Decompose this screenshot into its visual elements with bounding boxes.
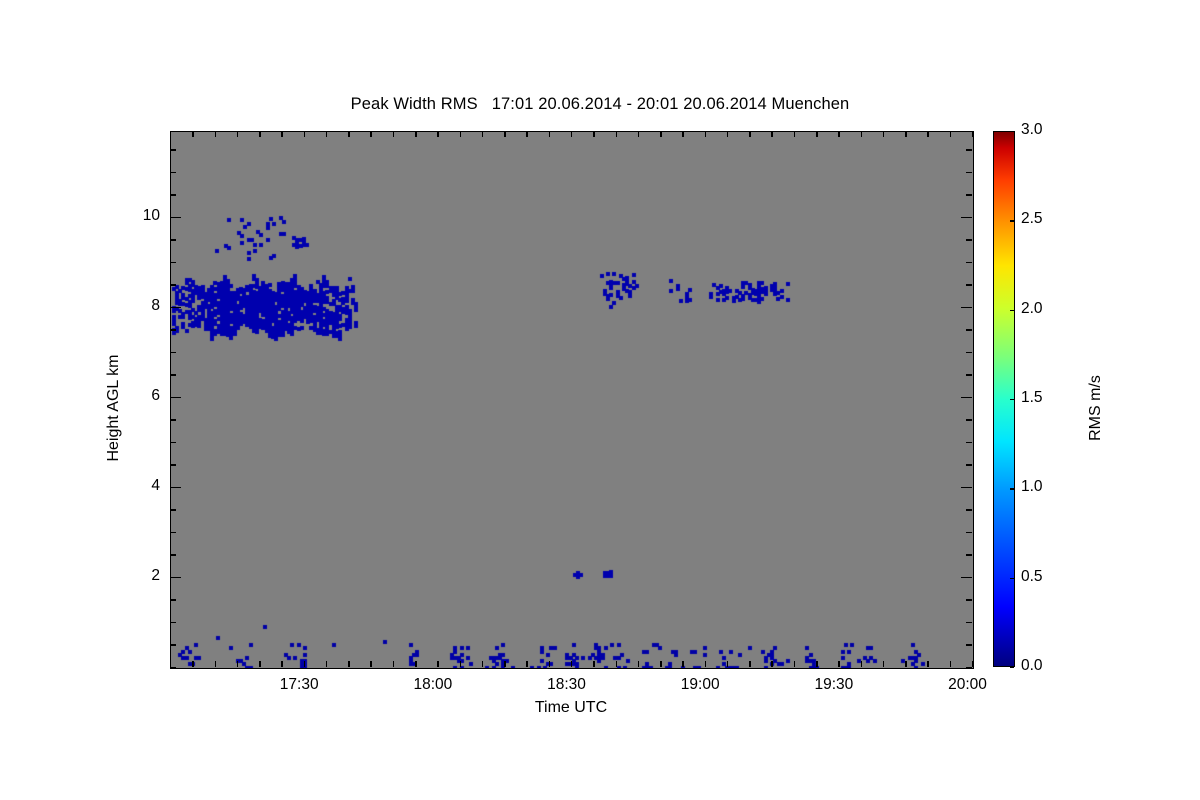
x-tick — [192, 131, 194, 137]
y-tick — [170, 644, 176, 646]
colorbar-tick — [1010, 488, 1014, 489]
x-tick — [549, 131, 551, 137]
page-title: Peak Width RMS 17:01 20.06.2014 - 20:01 … — [0, 95, 1200, 114]
y-tick — [170, 577, 181, 579]
y-tick — [966, 419, 972, 421]
colorbar-tick — [1010, 131, 1014, 132]
x-tick-label: 18:30 — [507, 676, 627, 694]
x-tick — [727, 661, 729, 667]
x-tick — [370, 131, 372, 137]
x-tick — [437, 661, 439, 667]
y-tick — [170, 487, 181, 489]
x-tick — [393, 131, 395, 137]
y-tick — [966, 509, 972, 511]
y-tick — [170, 419, 176, 421]
colorbar-tick-label: 3.0 — [1021, 121, 1043, 139]
x-tick — [259, 131, 261, 137]
y-tick — [966, 622, 972, 624]
y-tick — [966, 194, 972, 196]
y-tick — [961, 487, 972, 489]
x-tick — [682, 661, 684, 667]
x-tick — [883, 661, 885, 667]
y-tick — [170, 464, 176, 466]
x-tick — [771, 131, 773, 137]
x-tick — [705, 661, 707, 667]
colorbar-tick-label: 0.0 — [1021, 657, 1043, 675]
x-tick — [749, 661, 751, 667]
x-tick — [638, 661, 640, 667]
y-tick — [170, 284, 176, 286]
colorbar-tick — [1010, 220, 1014, 221]
plot-axes-area — [170, 131, 974, 669]
colorbar-tick-label: 2.5 — [1021, 210, 1043, 228]
x-tick — [616, 131, 618, 137]
y-tick — [966, 464, 972, 466]
x-tick — [861, 661, 863, 667]
y-tick — [170, 329, 176, 331]
x-tick — [660, 131, 662, 137]
y-tick — [966, 374, 972, 376]
x-tick-label: 20:00 — [908, 676, 1028, 694]
x-tick — [259, 661, 261, 667]
x-tick — [861, 131, 863, 137]
y-tick — [170, 622, 176, 624]
y-tick-label: 2 — [100, 567, 160, 585]
y-tick — [170, 194, 176, 196]
y-tick — [966, 284, 972, 286]
y-tick — [966, 532, 972, 534]
y-tick — [170, 149, 176, 151]
figure-canvas: Peak Width RMS 17:01 20.06.2014 - 20:01 … — [0, 0, 1200, 800]
colorbar-tick-label: 0.5 — [1021, 568, 1043, 586]
y-tick — [961, 397, 972, 399]
x-tick — [482, 661, 484, 667]
x-tick — [682, 131, 684, 137]
x-tick — [838, 661, 840, 667]
x-tick — [281, 661, 283, 667]
x-tick — [170, 131, 172, 137]
x-tick — [794, 661, 796, 667]
colorbar-tick-label: 2.0 — [1021, 300, 1043, 318]
x-tick — [727, 131, 729, 137]
x-tick — [771, 661, 773, 667]
x-tick — [593, 661, 595, 667]
x-tick — [281, 131, 283, 137]
x-tick-label: 18:00 — [373, 676, 493, 694]
x-tick — [616, 661, 618, 667]
x-tick — [192, 661, 194, 667]
y-tick — [170, 554, 176, 556]
x-tick — [950, 131, 952, 137]
y-tick — [170, 307, 181, 309]
x-tick — [571, 661, 573, 667]
x-tick — [972, 131, 974, 137]
x-tick — [705, 131, 707, 137]
y-tick — [170, 599, 176, 601]
x-tick — [816, 661, 818, 667]
x-tick — [348, 661, 350, 667]
x-tick — [326, 661, 328, 667]
x-tick-label: 19:30 — [774, 676, 894, 694]
x-axis-label: Time UTC — [170, 699, 972, 717]
x-tick — [326, 131, 328, 137]
x-tick — [749, 131, 751, 137]
x-tick — [460, 661, 462, 667]
x-tick — [816, 131, 818, 137]
x-tick — [304, 661, 306, 667]
x-tick-label: 19:00 — [640, 676, 760, 694]
y-tick — [966, 599, 972, 601]
x-tick — [794, 131, 796, 137]
y-tick — [966, 644, 972, 646]
y-tick — [170, 667, 176, 669]
x-tick — [504, 661, 506, 667]
y-tick — [961, 217, 972, 219]
x-tick — [950, 661, 952, 667]
x-tick — [549, 661, 551, 667]
x-tick — [393, 661, 395, 667]
colorbar-label: RMS m/s — [1087, 288, 1105, 528]
x-tick — [927, 131, 929, 137]
colorbar-tick-label: 1.0 — [1021, 478, 1043, 496]
y-tick — [966, 667, 972, 669]
x-tick — [883, 131, 885, 137]
x-tick — [593, 131, 595, 137]
y-tick — [170, 217, 181, 219]
y-tick — [170, 172, 176, 174]
x-tick — [237, 661, 239, 667]
y-tick — [966, 239, 972, 241]
colorbar-tick-label: 1.5 — [1021, 389, 1043, 407]
y-axis-label: Height AGL km — [105, 288, 123, 528]
x-tick — [215, 131, 217, 137]
colorbar-tick — [1010, 399, 1014, 400]
heatmap-data-layer — [171, 132, 973, 668]
x-tick-label: 17:30 — [239, 676, 359, 694]
x-tick — [526, 131, 528, 137]
x-tick — [972, 661, 974, 667]
x-tick — [638, 131, 640, 137]
x-tick — [927, 661, 929, 667]
x-tick — [304, 131, 306, 137]
x-tick — [415, 661, 417, 667]
colorbar-tick — [1010, 578, 1014, 579]
x-tick — [370, 661, 372, 667]
colorbar-tick — [1010, 667, 1014, 668]
x-tick — [905, 661, 907, 667]
colorbar-tick — [1010, 310, 1014, 311]
y-tick — [961, 307, 972, 309]
y-tick — [170, 374, 176, 376]
y-tick — [966, 352, 972, 354]
y-tick — [966, 172, 972, 174]
x-tick — [215, 661, 217, 667]
x-tick — [660, 661, 662, 667]
x-tick — [437, 131, 439, 137]
y-tick — [966, 554, 972, 556]
x-tick — [838, 131, 840, 137]
y-tick — [170, 442, 176, 444]
y-tick — [170, 239, 176, 241]
x-tick — [905, 131, 907, 137]
y-tick — [961, 577, 972, 579]
x-tick — [348, 131, 350, 137]
y-tick — [966, 262, 972, 264]
x-tick — [504, 131, 506, 137]
y-tick — [170, 532, 176, 534]
x-tick — [571, 131, 573, 137]
x-tick — [482, 131, 484, 137]
y-tick — [170, 262, 176, 264]
y-tick — [170, 509, 176, 511]
x-tick — [415, 131, 417, 137]
x-tick — [237, 131, 239, 137]
y-tick — [966, 442, 972, 444]
y-tick-label: 10 — [100, 207, 160, 225]
x-tick — [526, 661, 528, 667]
y-tick — [966, 329, 972, 331]
y-tick — [170, 397, 181, 399]
y-tick — [170, 352, 176, 354]
y-tick — [966, 149, 972, 151]
x-tick — [460, 131, 462, 137]
